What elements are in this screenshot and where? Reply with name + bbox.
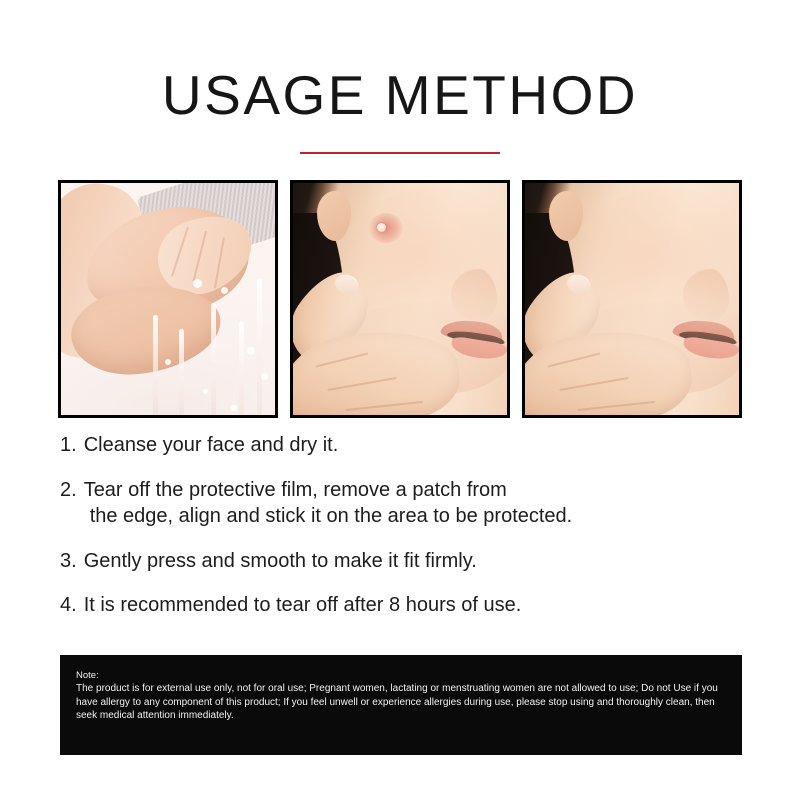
step-1-photo-content (61, 183, 275, 415)
page-title: USAGE METHOD (0, 68, 800, 123)
instruction-step-4: 4. It is recommended to tear off after 8… (60, 592, 760, 619)
instruction-step-3: 3. Gently press and smooth to make it fi… (60, 548, 760, 575)
step-2-photo (290, 180, 510, 418)
step-4-number: 4. (60, 592, 77, 619)
note-body: The product is for external use only, no… (76, 682, 726, 723)
step-1-text: Cleanse your face and dry it. (84, 432, 760, 459)
step-3-line-1: Gently press and smooth to make it fit f… (84, 548, 760, 575)
step-3-photo (522, 180, 742, 418)
photo-row (58, 180, 742, 418)
step-1-photo (58, 180, 278, 418)
title-underline (300, 152, 500, 154)
blemish-marker (369, 213, 403, 243)
step-4-line-1: It is recommended to tear off after 8 ho… (84, 592, 760, 619)
step-3-number: 3. (60, 548, 77, 575)
instruction-list: 1. Cleanse your face and dry it. 2. Tear… (60, 432, 760, 637)
step-2-text: Tear off the protective film, remove a p… (84, 477, 760, 530)
step-2-photo-content (293, 183, 507, 415)
step-1-number: 1. (60, 432, 77, 459)
step-2-line-2: the edge, align and stick it on the area… (84, 503, 760, 530)
step-4-text: It is recommended to tear off after 8 ho… (84, 592, 760, 619)
instruction-step-1: 1. Cleanse your face and dry it. (60, 432, 760, 459)
instruction-step-2: 2. Tear off the protective film, remove … (60, 477, 760, 530)
step-3-photo-content (525, 183, 739, 415)
step-2-line-1: Tear off the protective film, remove a p… (84, 477, 760, 504)
step-2-number: 2. (60, 477, 77, 504)
step-3-text: Gently press and smooth to make it fit f… (84, 548, 760, 575)
usage-method-page: USAGE METHOD (0, 0, 800, 800)
note-label: Note: (76, 669, 726, 682)
step-1-line-1: Cleanse your face and dry it. (84, 432, 760, 459)
note-box: Note: The product is for external use on… (60, 655, 742, 755)
